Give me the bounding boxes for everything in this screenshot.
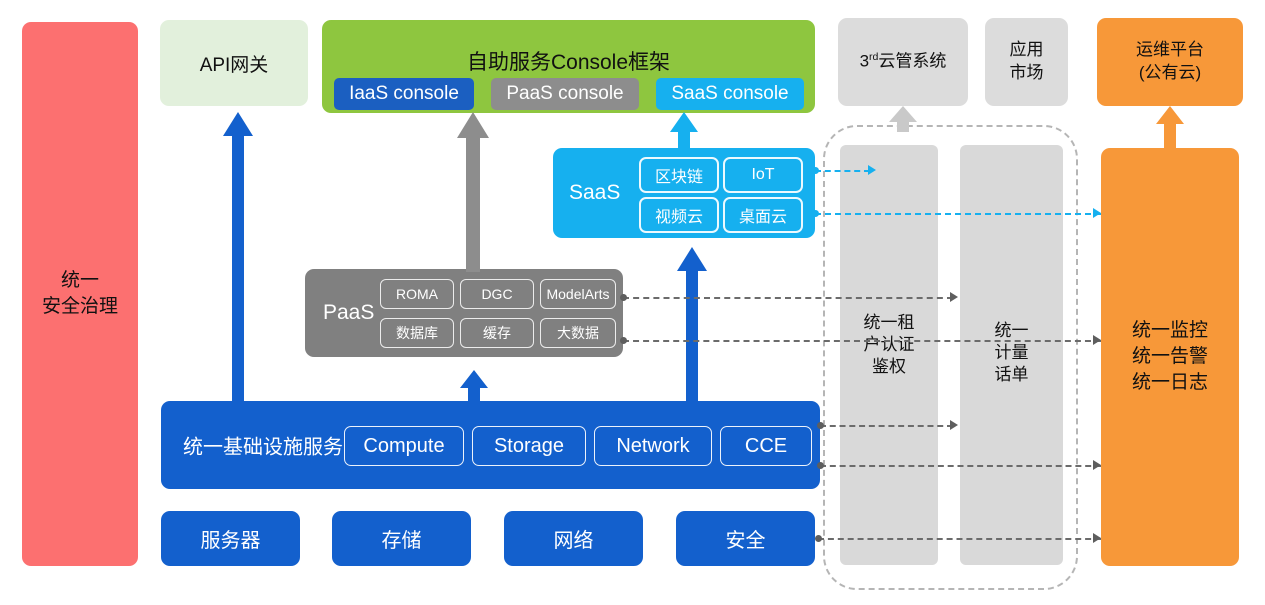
paas-item-bigdata[interactable]: 大数据 — [540, 318, 616, 348]
resource-card-network[interactable]: 网络 — [504, 511, 643, 566]
arrowhead-ops-blue — [1093, 208, 1101, 218]
console-framework-box: 自助服务Console框架 IaaS console PaaS console … — [322, 20, 815, 113]
paas-item-dgc[interactable]: DGC — [460, 279, 534, 309]
saas-item-iot[interactable]: IoT — [723, 157, 803, 193]
unified-infrastructure-label: 统一基础设施服务 — [183, 431, 343, 460]
resource-card-security-label: 安全 — [726, 524, 766, 553]
arrow-paas-to-console — [456, 112, 490, 272]
resource-card-network-label: 网络 — [554, 524, 594, 553]
paas-console-chip[interactable]: PaaS console — [491, 78, 639, 110]
dot-saas-row1 — [812, 167, 819, 174]
infra-item-storage[interactable]: Storage — [472, 426, 586, 466]
arrowhead-tenant-auth-blue — [868, 165, 876, 175]
dashed-infra-to-ops — [820, 465, 1101, 467]
arrow-to-ops-platform — [1155, 106, 1185, 148]
paas-block-label: PaaS — [323, 301, 374, 325]
dot-paas-row1 — [620, 294, 627, 301]
iaas-console-chip[interactable]: IaaS console — [334, 78, 474, 110]
unified-tenant-auth-label: 统一租 户认证 鉴权 — [840, 312, 938, 378]
app-market-line1: 应用 — [1010, 39, 1044, 62]
dashed-infra-to-metering — [820, 425, 953, 427]
dot-saas-row2 — [812, 210, 819, 217]
arrow-saas-to-console — [669, 112, 699, 152]
arrowhead-resources — [1093, 533, 1101, 543]
console-framework-title: 自助服务Console框架 — [322, 46, 815, 76]
saas-item-video-cloud[interactable]: 视频云 — [639, 197, 719, 233]
saas-console-chip[interactable]: SaaS console — [656, 78, 804, 110]
api-gateway-box[interactable]: API网关 — [160, 20, 308, 106]
third-party-cloud-mgmt-label: 3rd云管系统 — [860, 50, 947, 74]
paas-item-modelarts[interactable]: ModelArts — [540, 279, 616, 309]
infra-item-network[interactable]: Network — [594, 426, 712, 466]
ops-platform-public-cloud-box[interactable]: 运维平台 (公有云) — [1097, 18, 1243, 106]
unified-monitoring-label: 统一监控 — [1132, 318, 1208, 344]
ops-platform-line2: (公有云) — [1139, 62, 1201, 85]
dot-infra-row1 — [817, 422, 824, 429]
dashed-saas-to-tenant-auth — [815, 170, 870, 172]
saas-block-label: SaaS — [569, 181, 620, 205]
saas-item-blockchain[interactable]: 区块链 — [639, 157, 719, 193]
unified-alarm-label: 统一告警 — [1132, 344, 1208, 370]
unified-ops-panel: 统一监控 统一告警 统一日志 — [1101, 148, 1239, 566]
arrowhead-infra-row1 — [950, 420, 958, 430]
paas-item-database[interactable]: 数据库 — [380, 318, 454, 348]
paas-item-roma[interactable]: ROMA — [380, 279, 454, 309]
dot-resources — [815, 535, 822, 542]
arrow-infra-to-paas — [459, 370, 489, 402]
saas-block: SaaS 区块链 IoT 视频云 桌面云 — [553, 148, 815, 238]
dashed-resources-to-ops — [818, 538, 1101, 540]
unified-metering-label: 统一 计量 话单 — [960, 320, 1063, 386]
arrow-infra-to-api-gateway — [222, 112, 254, 404]
app-market-box[interactable]: 应用 市场 — [985, 18, 1068, 106]
saas-item-desktop-cloud[interactable]: 桌面云 — [723, 197, 803, 233]
arrowhead-infra-row2 — [1093, 460, 1101, 470]
arrowhead-paas-row1 — [950, 292, 958, 302]
security-governance-panel: 统一 安全治理 — [22, 22, 138, 566]
paas-item-cache[interactable]: 缓存 — [460, 318, 534, 348]
ops-platform-line1: 运维平台 — [1136, 39, 1204, 62]
resource-card-server-label: 服务器 — [201, 524, 261, 553]
infra-item-compute[interactable]: Compute — [344, 426, 464, 466]
dashed-paas-to-tenant-auth — [623, 297, 953, 299]
dashed-paas-to-ops — [623, 340, 1101, 342]
api-gateway-label: API网关 — [200, 50, 269, 77]
infra-item-cce[interactable]: CCE — [720, 426, 812, 466]
resource-card-storage[interactable]: 存储 — [332, 511, 471, 566]
unified-metering-bar: 统一 计量 话单 — [960, 145, 1063, 565]
app-market-line2: 市场 — [1010, 62, 1044, 85]
dashed-saas-to-ops — [815, 213, 1101, 215]
third-party-cloud-mgmt-box[interactable]: 3rd云管系统 — [838, 18, 968, 106]
arrow-infra-to-saas — [676, 247, 708, 402]
unified-tenant-auth-bar: 统一租 户认证 鉴权 — [840, 145, 938, 565]
arrow-to-third-party-cloud-mgmt — [888, 106, 918, 132]
unified-log-label: 统一日志 — [1132, 370, 1208, 396]
paas-block: PaaS ROMA DGC ModelArts 数据库 缓存 大数据 — [305, 269, 623, 357]
arrowhead-paas-row2 — [1093, 335, 1101, 345]
security-governance-label: 统一 安全治理 — [42, 268, 118, 319]
resource-card-server[interactable]: 服务器 — [161, 511, 300, 566]
unified-infrastructure-block: 统一基础设施服务 Compute Storage Network CCE — [161, 401, 820, 489]
resource-card-security[interactable]: 安全 — [676, 511, 815, 566]
dot-paas-row2 — [620, 337, 627, 344]
dot-infra-row2 — [817, 462, 824, 469]
resource-card-storage-label: 存储 — [382, 524, 422, 553]
